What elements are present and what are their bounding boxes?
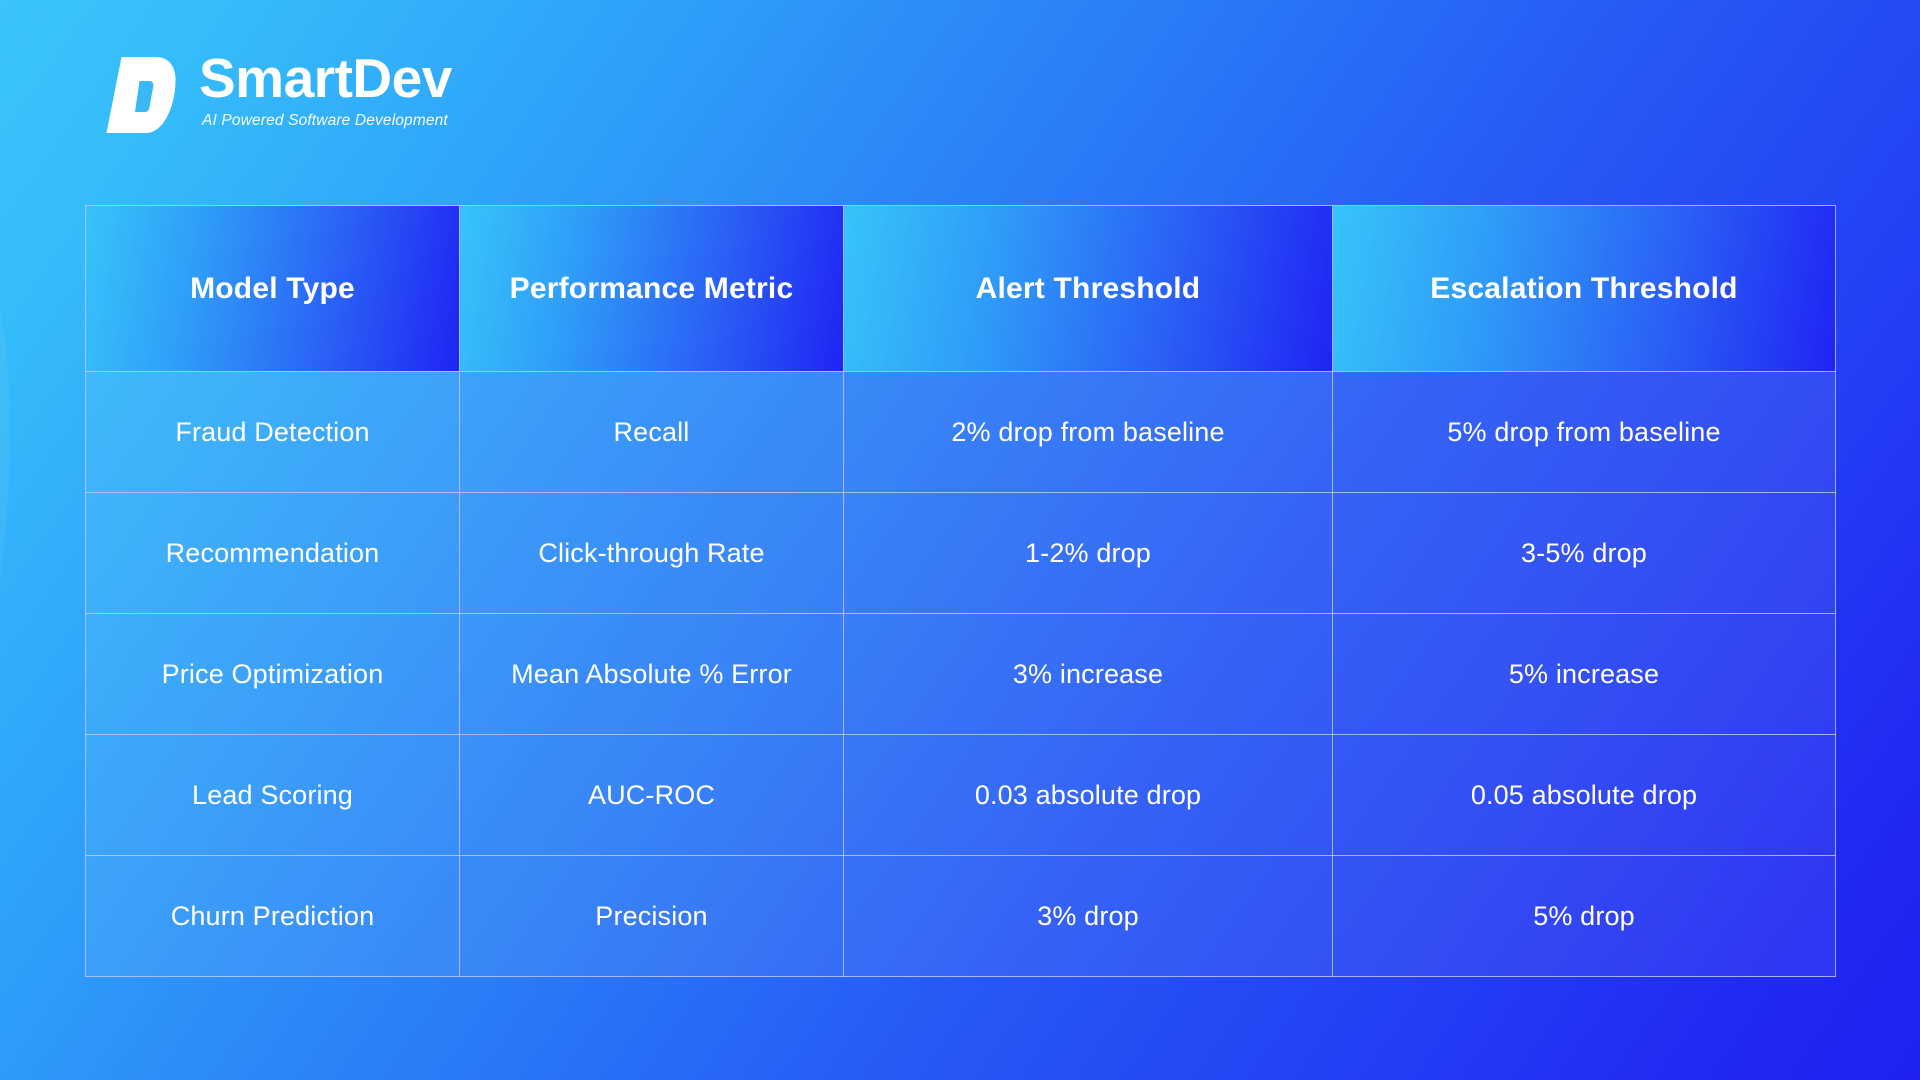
cell-model-type: Lead Scoring [86, 735, 460, 856]
cell-alert-threshold: 0.03 absolute drop [844, 735, 1333, 856]
smartdev-watermark-icon [0, 0, 40, 1080]
cell-performance-metric: AUC-ROC [460, 735, 844, 856]
table-body: Fraud Detection Recall 2% drop from base… [86, 372, 1836, 977]
table-header: Model Type Performance Metric Alert Thre… [86, 206, 1836, 372]
table-row: Lead Scoring AUC-ROC 0.03 absolute drop … [86, 735, 1836, 856]
cell-model-type: Price Optimization [86, 614, 460, 735]
column-header-alert-threshold: Alert Threshold [844, 206, 1333, 372]
cell-performance-metric: Recall [460, 372, 844, 493]
column-header-performance-metric: Performance Metric [460, 206, 844, 372]
smartdev-d-mark-icon [104, 55, 177, 135]
column-header-escalation-threshold: Escalation Threshold [1333, 206, 1836, 372]
cell-alert-threshold: 3% increase [844, 614, 1333, 735]
table-header-row: Model Type Performance Metric Alert Thre… [86, 206, 1836, 372]
table-row: Churn Prediction Precision 3% drop 5% dr… [86, 856, 1836, 977]
brand-tagline: AI Powered Software Development [202, 112, 452, 130]
cell-performance-metric: Click-through Rate [460, 493, 844, 614]
cell-performance-metric: Precision [460, 856, 844, 977]
brand-wordmark: SmartDev [199, 50, 452, 108]
table-row: Recommendation Click-through Rate 1-2% d… [86, 493, 1836, 614]
column-header-model-type: Model Type [86, 206, 460, 372]
cell-model-type: Churn Prediction [86, 856, 460, 977]
cell-escalation-threshold: 0.05 absolute drop [1333, 735, 1836, 856]
cell-escalation-threshold: 5% drop [1333, 856, 1836, 977]
cell-alert-threshold: 3% drop [844, 856, 1333, 977]
cell-escalation-threshold: 3-5% drop [1333, 493, 1836, 614]
cell-model-type: Recommendation [86, 493, 460, 614]
cell-alert-threshold: 2% drop from baseline [844, 372, 1333, 493]
cell-alert-threshold: 1-2% drop [844, 493, 1333, 614]
cell-escalation-threshold: 5% increase [1333, 614, 1836, 735]
infographic-page: SmartDev AI Powered Software Development… [0, 0, 1920, 1080]
brand-text: SmartDev AI Powered Software Development [199, 50, 452, 130]
model-threshold-table: Model Type Performance Metric Alert Thre… [85, 205, 1836, 977]
table-row: Price Optimization Mean Absolute % Error… [86, 614, 1836, 735]
cell-performance-metric: Mean Absolute % Error [460, 614, 844, 735]
cell-model-type: Fraud Detection [86, 372, 460, 493]
brand-logo: SmartDev AI Powered Software Development [104, 50, 452, 135]
cell-escalation-threshold: 5% drop from baseline [1333, 372, 1836, 493]
table-row: Fraud Detection Recall 2% drop from base… [86, 372, 1836, 493]
